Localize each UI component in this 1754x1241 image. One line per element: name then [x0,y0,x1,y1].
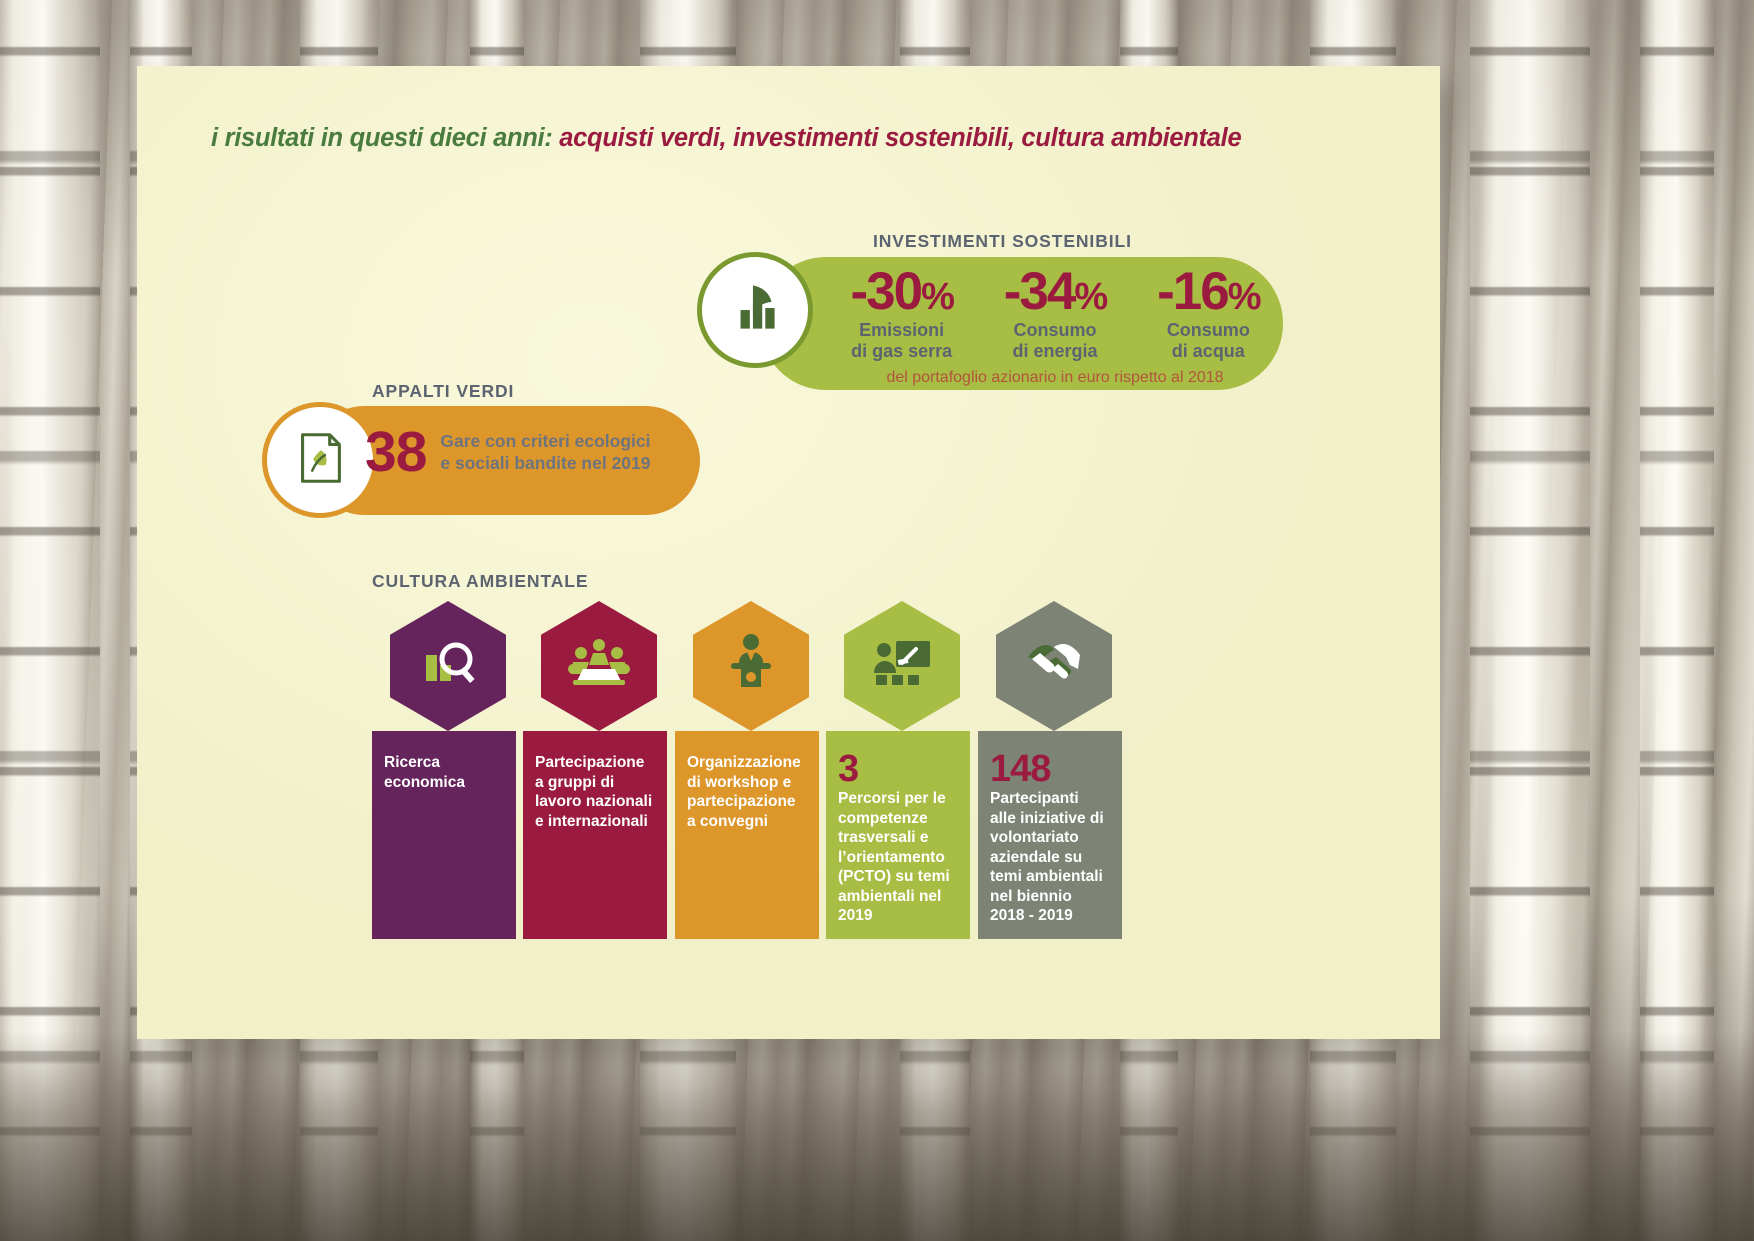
bar-chart-leaf-icon [722,275,788,346]
stat-acqua: -16% Consumo di acqua [1132,265,1285,363]
stat-caption: Consumo di energia [978,320,1131,362]
stat-energia: -34% Consumo di energia [978,265,1131,363]
cultura-text: Ricerca economica [384,753,506,792]
hexagon-shape [390,601,506,731]
section-label-appalti: APPALTI VERDI [372,381,514,402]
cultura-text: Partecipanti alle iniziative di volontar… [990,789,1112,926]
cultura-hex-3 [693,601,809,731]
stat-value: -30% [825,265,978,319]
page-title-lead: i risultati in questi dieci anni: [211,124,553,152]
section-label-cultura: CULTURA AMBIENTALE [372,571,588,592]
appalti-content: 38 Gare con criteri ecologici e sociali … [365,424,651,481]
cultura-hex-5 [996,601,1112,731]
cultura-number: 3 [838,751,960,787]
cultura-hex-2 [541,601,657,731]
cultura-text: Organizzazione di workshop e partecipazi… [687,753,809,831]
chart-magnifier-icon [416,635,480,698]
hexagon-shape [693,601,809,731]
stat-value: -34% [978,265,1131,319]
handshake-icon [1022,635,1086,698]
cultura-hex-4 [844,601,960,731]
cultura-columns: Ricerca economica Parte [368,601,1128,941]
cultura-column-volontariato: 148 Partecipanti alle iniziative di volo… [978,731,1122,939]
investimenti-badge [697,252,813,368]
stat-caption: Emissioni di gas serra [825,320,978,362]
investimenti-note: del portafoglio azionario in euro rispet… [825,369,1285,387]
hexagon-shape [844,601,960,731]
appalti-caption: Gare con criteri ecologici e sociali ban… [440,431,650,474]
cultura-number: 148 [990,751,1112,787]
appalti-badge [262,402,378,518]
section-label-investimenti: INVESTIMENTI SOSTENIBILI [873,231,1132,252]
investimenti-stats: -30% Emissioni di gas serra -34% Consumo… [825,265,1285,365]
document-leaf-icon [289,422,351,499]
speaker-podium-icon [719,635,783,698]
forest-floor [0,1031,1754,1241]
cultura-text: Partecipazione a gruppi di lavoro nazion… [535,753,657,831]
appalti-number: 38 [365,424,426,481]
hexagon-shape [996,601,1112,731]
cultura-column-pcto: 3 Percorsi per le competenze trasversali… [826,731,970,939]
page-title-emphasis: acquisti verdi, investimenti sostenibili… [559,124,1241,152]
cultura-hex-1 [390,601,506,731]
meeting-group-icon [567,635,631,698]
cultura-column-workshop: Organizzazione di workshop e partecipazi… [675,731,819,939]
stat-emissioni: -30% Emissioni di gas serra [825,265,978,363]
teacher-blackboard-icon [870,635,934,698]
cultura-column-gruppi: Partecipazione a gruppi di lavoro nazion… [523,731,667,939]
stat-caption: Consumo di acqua [1132,320,1285,362]
cultura-text: Percorsi per le competenze trasversali e… [838,789,960,926]
cultura-column-ricerca: Ricerca economica [372,731,516,939]
page-title: i risultati in questi dieci anni: acquis… [211,124,1241,153]
hexagon-shape [541,601,657,731]
stat-value: -16% [1132,265,1285,319]
